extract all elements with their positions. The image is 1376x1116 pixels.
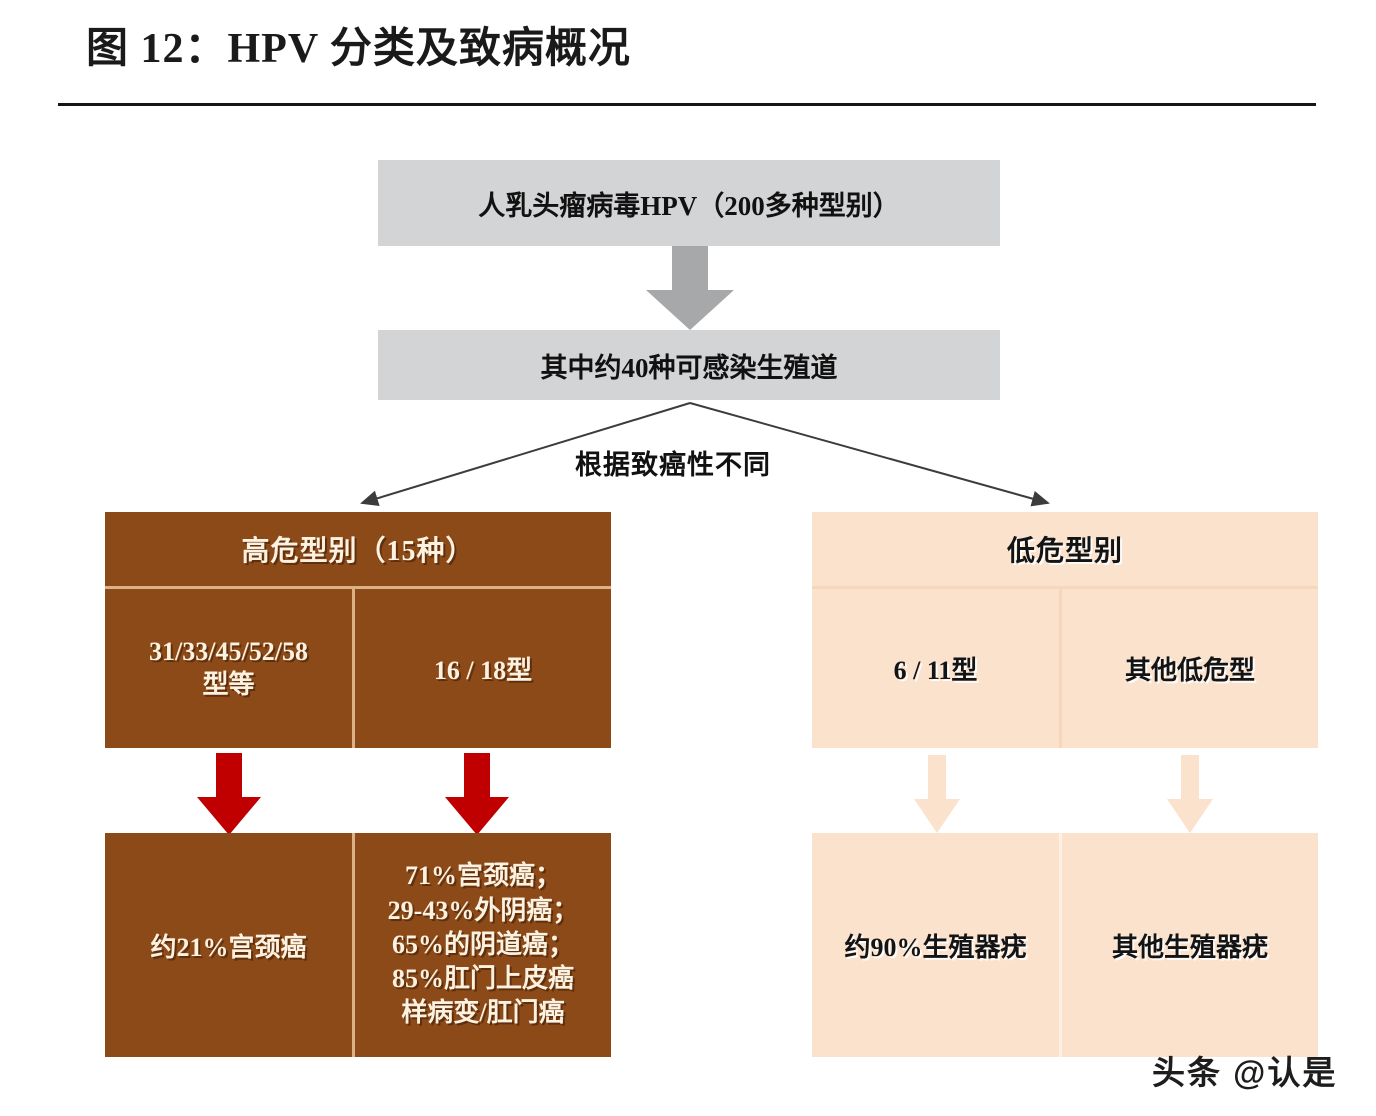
high-risk-outcome-right-label: 71%宫颈癌； 29-43%外阴癌； 65%的阴道癌； 85%肛门上皮癌 样病变… [388, 859, 579, 1031]
low-risk-group: 低危型别 6 / 11型 其他低危型 [812, 512, 1318, 748]
high-risk-outcome-left: 约21%宫颈癌 [105, 833, 352, 1057]
high-risk-outcome-left-label: 约21%宫颈癌 [150, 927, 306, 964]
gray-down-arrow-icon [642, 246, 738, 330]
high-risk-header: 高危型别（15种） [105, 512, 611, 586]
low-risk-outcome-left: 约90%生殖器疣 [812, 833, 1059, 1057]
low-risk-outcome-right: 其他生殖器疣 [1062, 833, 1318, 1057]
high-risk-types-left-label: 31/33/45/52/58 型等 [149, 636, 308, 701]
low-risk-outcome-left-label: 约90%生殖器疣 [844, 927, 1026, 964]
low-risk-header-label: 低危型别 [1007, 529, 1123, 569]
low-risk-outcome-right-label: 其他生殖器疣 [1112, 927, 1268, 964]
page-title: 图 12：HPV 分类及致病概况 [86, 14, 631, 75]
high-risk-types-right: 16 / 18型 [355, 589, 611, 748]
high-risk-group: 高危型别（15种） 31/33/45/52/58 型等 16 / 18型 [105, 512, 611, 748]
genital-infection-label: 其中约40种可感染生殖道 [541, 346, 838, 385]
watermark: 头条 @认是 [1152, 1046, 1337, 1094]
low-risk-outcome-group: 约90%生殖器疣 其他生殖器疣 [812, 833, 1318, 1057]
high-risk-types-right-label: 16 / 18型 [434, 650, 532, 687]
low-risk-types-left-label: 6 / 11型 [894, 650, 978, 687]
red-down-arrow-right-icon [443, 753, 511, 835]
high-risk-outcome-group: 约21%宫颈癌 71%宫颈癌； 29-43%外阴癌； 65%的阴道癌； 85%肛… [105, 833, 611, 1057]
hpv-root-label: 人乳头瘤病毒HPV（200多种型别） [478, 184, 900, 223]
high-risk-outcome-right: 71%宫颈癌； 29-43%外阴癌； 65%的阴道癌； 85%肛门上皮癌 样病变… [355, 833, 611, 1057]
genital-infection-box: 其中约40种可感染生殖道 [378, 330, 1000, 400]
hpv-root-box: 人乳头瘤病毒HPV（200多种型别） [378, 160, 1000, 246]
peach-down-arrow-left-icon [912, 755, 962, 833]
low-risk-header: 低危型别 [812, 512, 1318, 586]
diagram-page: 图 12：HPV 分类及致病概况 人乳头瘤病毒HPV（200多种型别） 其中约4… [0, 0, 1376, 1116]
branch-label: 根据致癌性不同 [575, 443, 771, 482]
low-risk-types-right: 其他低危型 [1062, 589, 1318, 748]
peach-down-arrow-right-icon [1165, 755, 1215, 833]
low-risk-types-left: 6 / 11型 [812, 589, 1059, 748]
high-risk-header-label: 高危型别（15种） [241, 529, 474, 569]
red-down-arrow-left-icon [195, 753, 263, 835]
header-divider [58, 103, 1316, 106]
high-risk-types-left: 31/33/45/52/58 型等 [105, 589, 352, 748]
low-risk-types-right-label: 其他低危型 [1125, 650, 1255, 687]
